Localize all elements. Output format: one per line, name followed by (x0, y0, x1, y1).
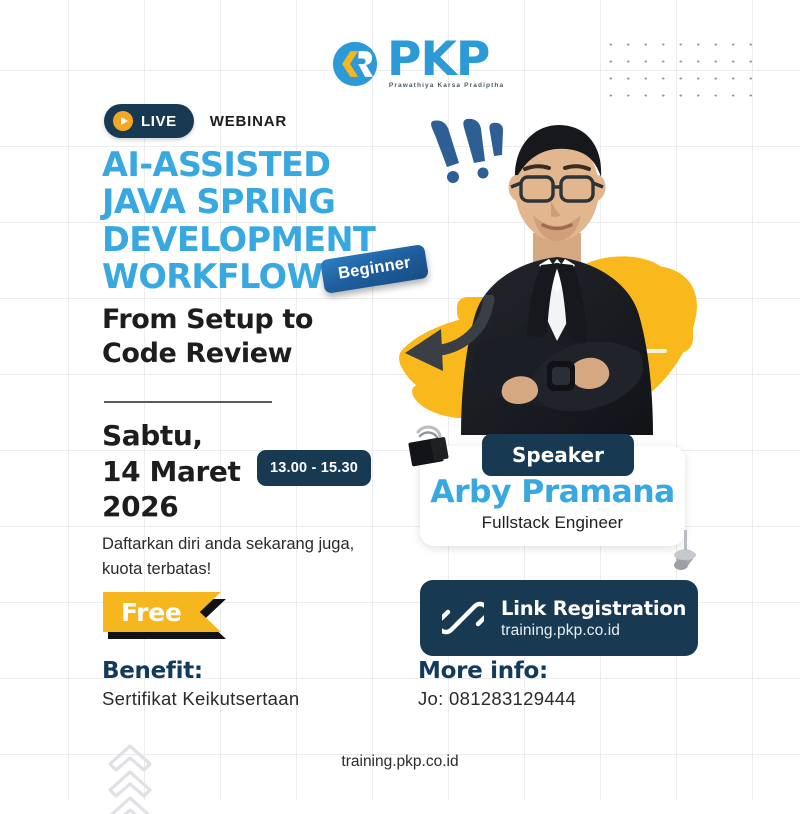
speaker-chip: Speaker (482, 434, 634, 476)
title-line-2: JAVA SPRING (102, 183, 432, 220)
live-label: LIVE (141, 113, 177, 130)
subtitle-line-1: From Setup to (102, 303, 402, 337)
page-subtitle: From Setup to Code Review (102, 303, 402, 372)
date-line-1: Sabtu, (102, 418, 282, 454)
logo-wordmark: PKP (387, 38, 503, 81)
pkp-circle-r-icon (332, 41, 378, 87)
speaker-photo (455, 105, 660, 435)
speaker-role: Fullstack Engineer (420, 513, 685, 533)
binder-clip-icon (404, 424, 456, 472)
benefit-block: Benefit: Sertifikat Keikutsertaan (102, 658, 299, 710)
more-info-block: More info: Jo: 081283129444 (418, 658, 576, 710)
title-line-1: AI-ASSISTED (102, 146, 432, 183)
push-pin-icon (664, 528, 706, 572)
live-webinar-row: LIVE WEBINAR (104, 104, 287, 138)
link-registration-button[interactable]: Link Registration training.pkp.co.id (420, 580, 698, 656)
play-icon (113, 111, 133, 131)
more-info-value: Jo: 081283129444 (418, 688, 576, 710)
chain-link-icon (442, 597, 484, 639)
register-note: Daftarkan diri anda sekarang juga, kuota… (102, 532, 362, 582)
event-date: Sabtu, 14 Maret 2026 (102, 418, 282, 525)
free-badge: Free (103, 592, 221, 632)
logo-text-block: PKP Prawathiya Karsa Pradiptha (387, 38, 503, 90)
benefit-heading: Benefit: (102, 658, 299, 684)
date-line-2: 14 Maret (102, 454, 282, 490)
logo-tagline: Prawathiya Karsa Pradiptha (389, 83, 504, 89)
free-label: Free (103, 598, 182, 627)
hero-artwork (395, 105, 705, 435)
benefit-value: Sertifikat Keikutsertaan (102, 688, 299, 710)
subtitle-line-2: Code Review (102, 337, 402, 371)
date-line-3: 2026 (102, 489, 282, 525)
webinar-label: WEBINAR (210, 113, 287, 130)
link-url: training.pkp.co.id (501, 622, 686, 640)
pkp-logo: PKP Prawathiya Karsa Pradiptha (332, 38, 503, 90)
footer-url: training.pkp.co.id (0, 753, 800, 771)
speaker-name: Arby Pramana (420, 474, 685, 510)
link-texts: Link Registration training.pkp.co.id (501, 597, 686, 640)
curved-arrow-icon (389, 295, 497, 373)
link-title: Link Registration (501, 597, 686, 620)
dot-grid-icon (600, 34, 760, 100)
live-badge: LIVE (104, 104, 194, 138)
time-badge: 13.00 - 15.30 (257, 450, 371, 486)
more-info-heading: More info: (418, 658, 576, 684)
divider (104, 401, 272, 403)
